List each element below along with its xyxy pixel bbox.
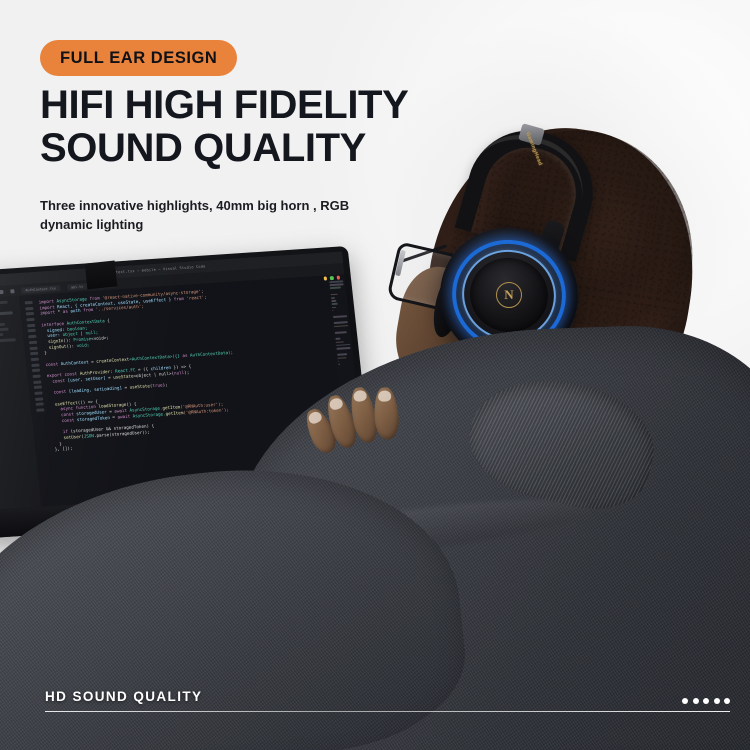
page-title: HIFI HIGH FIDELITY SOUND QUALITY bbox=[40, 84, 510, 170]
bottom-caption-label: HD SOUND QUALITY bbox=[45, 689, 202, 704]
pagination-dot[interactable] bbox=[682, 698, 688, 704]
subtitle-text: Three innovative highlights, 40mm big ho… bbox=[40, 196, 370, 234]
bottom-divider-line bbox=[45, 711, 730, 712]
category-badge: FULL EAR DESIGN bbox=[40, 40, 237, 76]
pagination-dots[interactable] bbox=[682, 698, 730, 704]
bottom-caption-bar: HD SOUND QUALITY bbox=[0, 654, 750, 750]
pagination-dot[interactable] bbox=[693, 698, 699, 704]
pagination-dot[interactable] bbox=[724, 698, 730, 704]
pagination-dot[interactable] bbox=[714, 698, 720, 704]
product-banner: line"; ute-handler"; er"; nt/Header"; re… bbox=[0, 0, 750, 750]
brand-logo-icon: N bbox=[496, 282, 522, 308]
pagination-dot[interactable] bbox=[703, 698, 709, 704]
